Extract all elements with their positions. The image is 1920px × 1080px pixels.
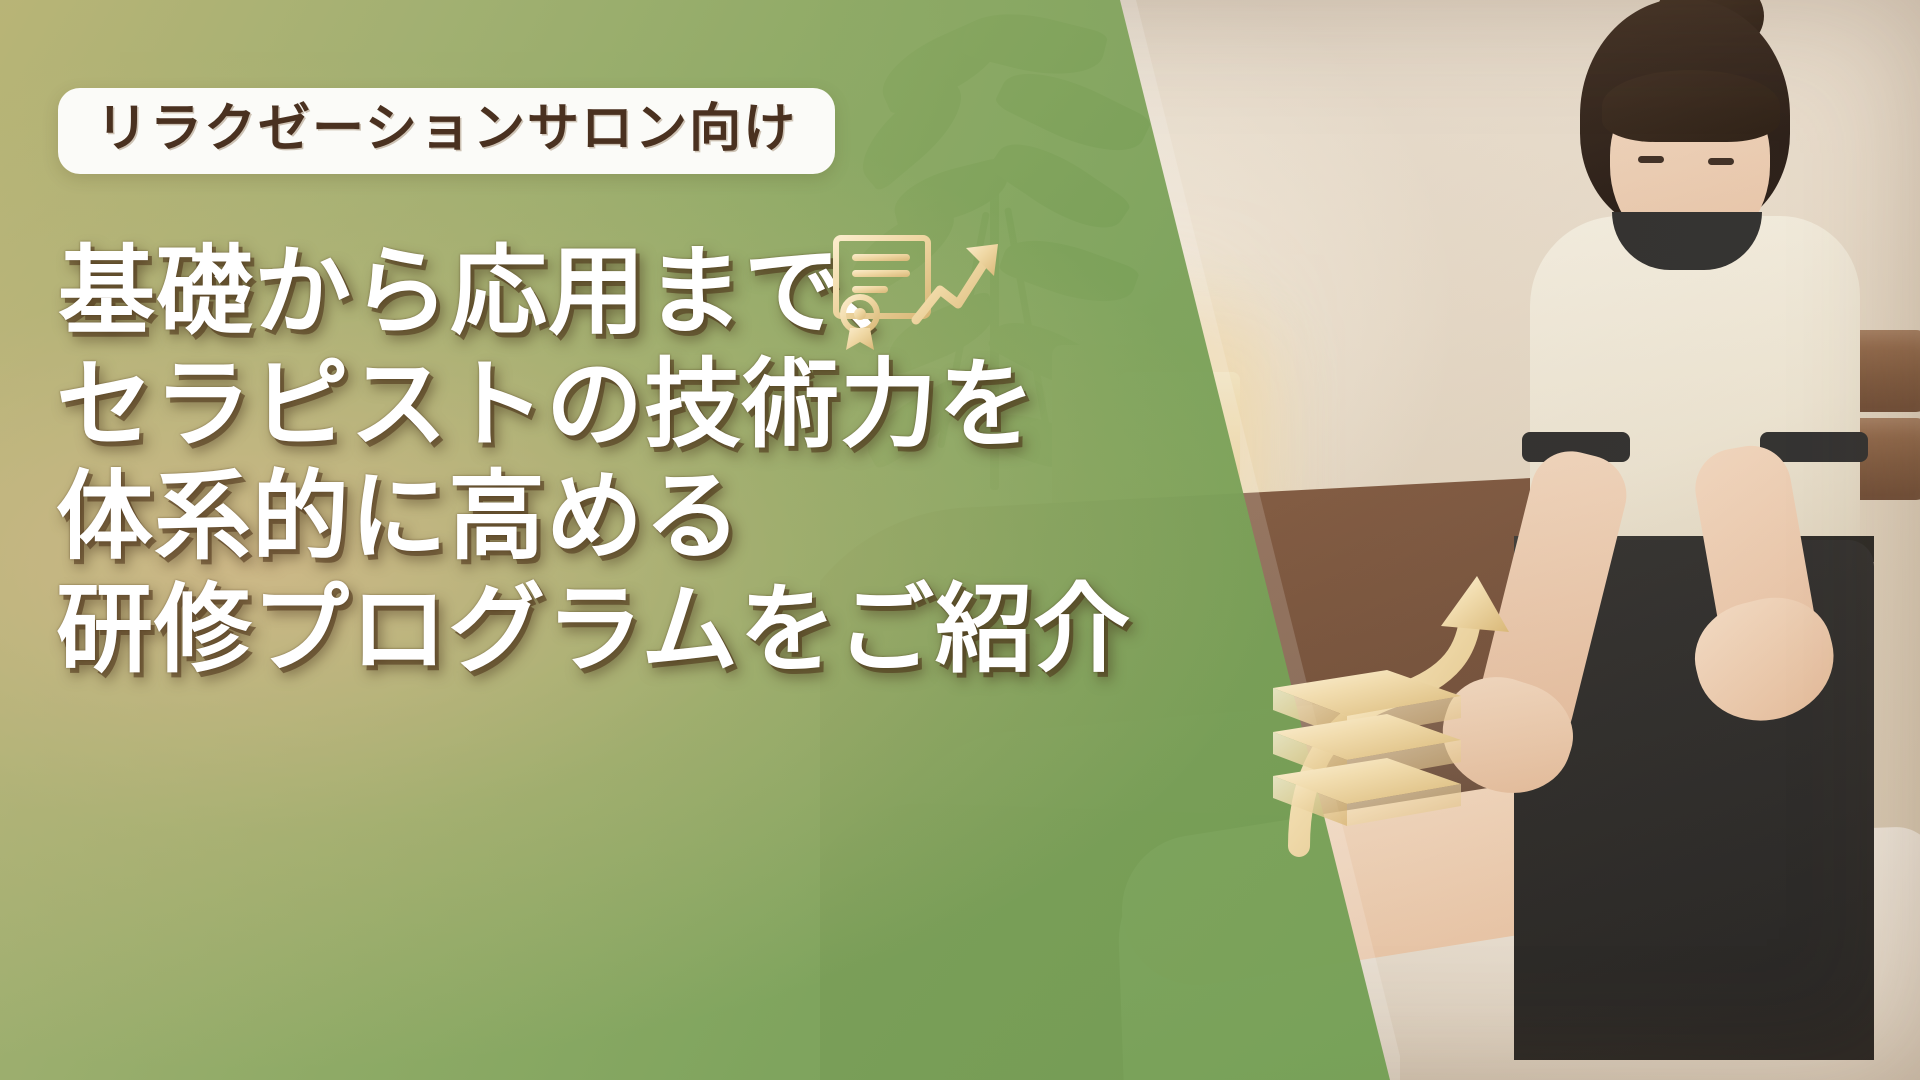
target-audience-badge[interactable]: リラクゼーションサロン向け: [58, 88, 835, 174]
book-stack-arrow-icon: [1255, 570, 1535, 860]
target-audience-badge-label: リラクゼーションサロン向け: [96, 103, 797, 155]
book-stack: [1273, 670, 1461, 826]
certificate-seal: [843, 297, 877, 350]
headline-line-4: 研修プログラムをご紹介: [56, 576, 1116, 685]
certificate-growth-arrow-icon: [830, 232, 1010, 354]
banner-root: リラクゼーションサロン向け 基礎から応用まで、 セラピストの技術力を 体系的に高…: [0, 0, 1920, 1080]
headline-line-2: セラピストの技術力を: [56, 351, 1116, 460]
headline-line-3: 体系的に高める: [56, 463, 1116, 572]
